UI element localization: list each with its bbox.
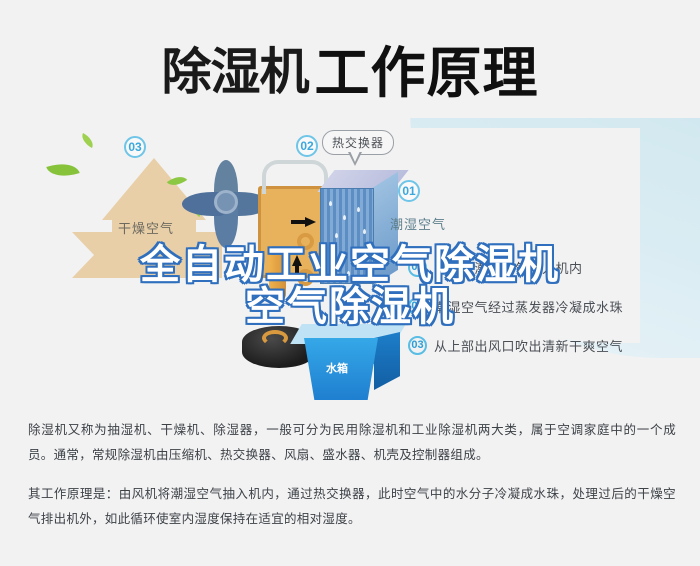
callout-pointer-icon <box>348 152 362 166</box>
step-list: 01 风机将潮湿空气抽入机内 02 潮湿空气经过蒸发器冷凝成水珠 03 从上部出… <box>408 258 700 375</box>
list-item: 02 潮湿空气经过蒸发器冷凝成水珠 <box>408 297 700 316</box>
compressor-coil-icon <box>262 330 288 346</box>
paragraph-definition: 除湿机又称为抽湿机、干燥机、除湿器，一般可分为民用除湿机和工业除湿机两大类，属于… <box>28 418 676 468</box>
water-tank-label: 水箱 <box>326 360 348 376</box>
badge-humid-air: 01 <box>398 180 420 202</box>
machine-internals <box>258 160 408 310</box>
list-item: 01 风机将潮湿空气抽入机内 <box>408 258 700 277</box>
dehumidifier-diagram: 水箱 03 02 01 干燥空气 潮湿空气 热交换器 01 风机将潮湿空气抽入机… <box>0 118 700 408</box>
paragraph-principle: 其工作原理是：由风机将潮湿空气抽入机内，通过热交换器，此时空气中的水分子冷凝成水… <box>28 482 676 532</box>
body-text-block: 除湿机又称为抽湿机、干燥机、除湿器，一般可分为民用除湿机和工业除湿机两大类，属于… <box>28 418 676 532</box>
water-tank: 水箱 <box>296 324 404 404</box>
step-text: 潮湿空气经过蒸发器冷凝成水珠 <box>434 297 623 316</box>
step-number: 03 <box>408 336 427 355</box>
badge-dry-air: 03 <box>124 136 146 158</box>
humid-air-label: 潮湿空气 <box>390 214 446 233</box>
page-title-part1: 除湿机 <box>161 44 308 100</box>
page-title-part2: 工作原理 <box>314 42 538 104</box>
badge-heat-exchanger: 02 <box>296 135 318 157</box>
page-title: 除湿机工作原理 <box>0 28 700 108</box>
step-number: 02 <box>408 297 427 316</box>
page-root: 除湿机工作原理 <box>0 0 700 566</box>
step-number: 01 <box>408 258 427 277</box>
step-text: 从上部出风口吹出清新干爽空气 <box>434 336 623 355</box>
dry-air-label: 干燥空气 <box>118 218 174 237</box>
leaf-icon <box>79 133 96 148</box>
list-item: 03 从上部出风口吹出清新干爽空气 <box>408 336 700 355</box>
step-text: 风机将潮湿空气抽入机内 <box>434 258 583 277</box>
